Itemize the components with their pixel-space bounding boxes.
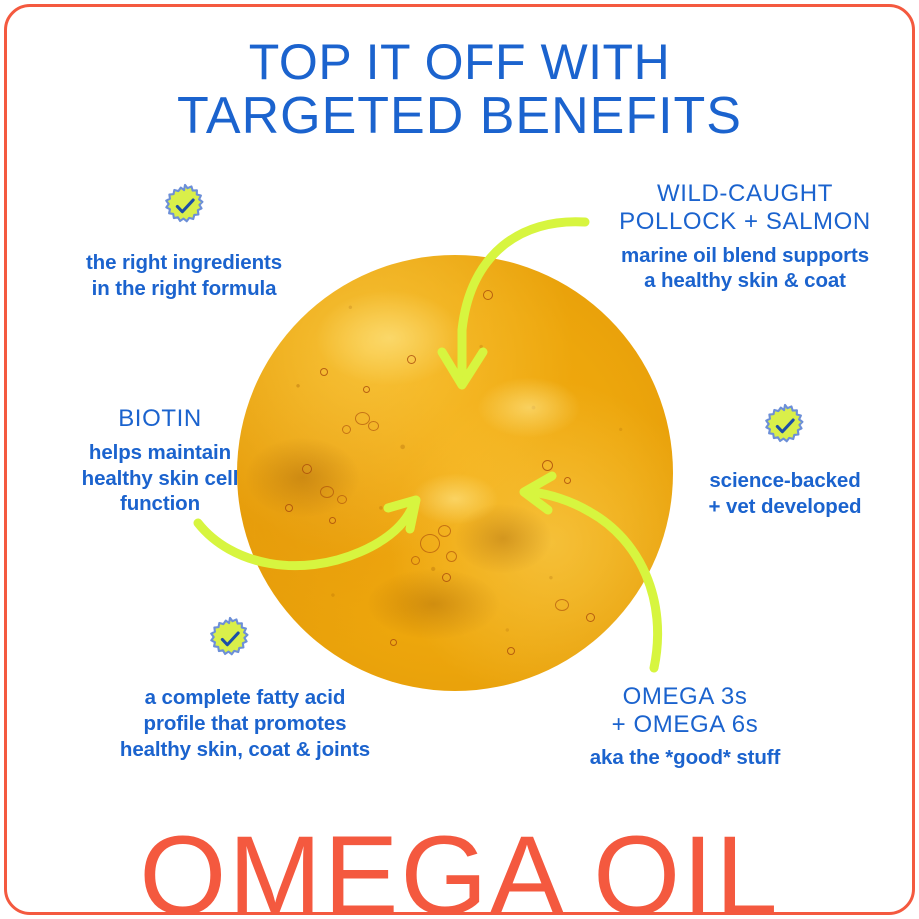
oil-bubble-cluster [420, 534, 440, 553]
callout-head-line: WILD-CAUGHT [657, 180, 833, 207]
callout-omega-3s-omega-6s: OMEGA 3s + OMEGA 6s aka the *good* stuff [545, 683, 825, 770]
oil-highlight [477, 377, 582, 438]
oil-bubble [390, 639, 397, 646]
callout-biotin: BIOTIN helps maintain healthy skin cell … [20, 405, 300, 517]
oil-bubble-cluster [337, 495, 347, 504]
callout-body-line: aka the *good* stuff [590, 746, 781, 769]
omega-oil-infographic: TOP IT OFF WITH TARGETED BENEFITS [0, 0, 919, 919]
callout-body-line: science-backed [709, 469, 860, 492]
callout-head-line: BIOTIN [118, 405, 202, 432]
callout-body-line: marine oil blend supports [621, 244, 869, 267]
callout-head-line: OMEGA 3s [623, 683, 748, 710]
oil-highlight [315, 290, 463, 386]
callout-science-backed: science-backed + vet developed [670, 468, 900, 520]
oil-bubble-cluster [368, 421, 379, 431]
callout-head-line: + OMEGA 6s [612, 711, 759, 738]
oil-bubble-cluster [342, 425, 351, 434]
oil-shadow [455, 504, 551, 574]
callout-body-line: profile that promotes [144, 712, 347, 735]
callout-complete-fatty-acid-profile: a complete fatty acid profile that promo… [85, 685, 405, 762]
oil-bubble [329, 517, 336, 524]
oil-circle-image [237, 255, 673, 691]
oil-bubble-cluster [320, 486, 334, 498]
callout-body-line: a healthy skin & coat [644, 269, 846, 292]
callout-body-line: the right ingredients [86, 251, 282, 274]
callout-body-line: healthy skin cell [82, 467, 239, 490]
oil-shadow [368, 569, 499, 639]
check-badge-icon [207, 616, 253, 662]
oil-bubble [586, 613, 595, 622]
callout-body-line: in the right formula [92, 277, 277, 300]
page-title-line-2: TARGETED BENEFITS [0, 89, 919, 144]
page-title: TOP IT OFF WITH TARGETED BENEFITS [0, 36, 919, 144]
callout-body-line: helps maintain [89, 441, 231, 464]
callout-body-line: a complete fatty acid [145, 686, 346, 709]
oil-bubble-cluster [438, 525, 451, 537]
callout-wild-caught-pollock-salmon: WILD-CAUGHT POLLOCK + SALMON marine oil … [585, 180, 905, 294]
callout-body-line: + vet developed [709, 495, 862, 518]
page-title-line-1: TOP IT OFF WITH [0, 36, 919, 89]
callout-body-line: function [120, 492, 200, 515]
check-badge-icon [162, 183, 208, 229]
product-wordmark: OMEGA OIL [0, 820, 919, 919]
callout-head-line: POLLOCK + SALMON [619, 208, 871, 235]
callout-body-line: healthy skin, coat & joints [120, 738, 370, 761]
check-badge-icon [762, 403, 808, 449]
callout-the-right-ingredients: the right ingredients in the right formu… [34, 250, 334, 302]
